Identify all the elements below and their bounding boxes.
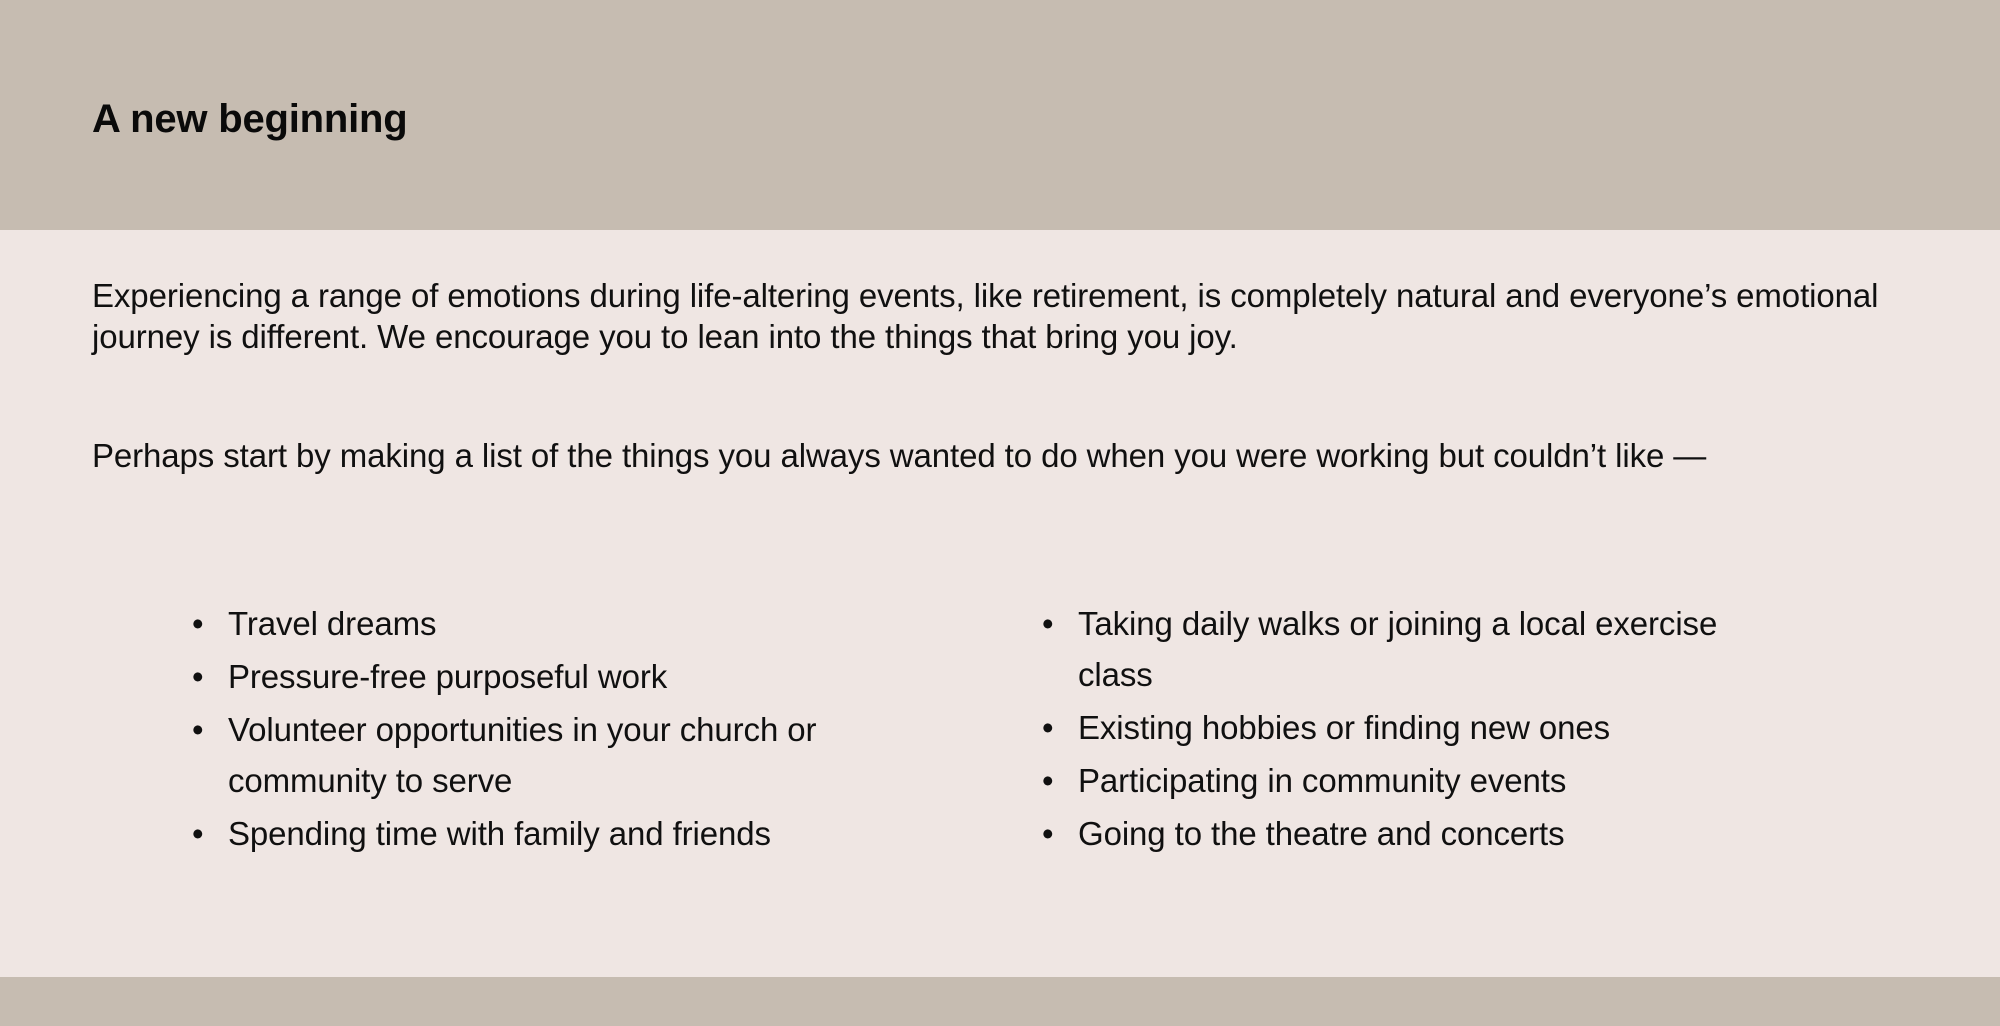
- bullet-icon: •: [192, 704, 228, 755]
- list-item-label: Travel dreams: [228, 605, 436, 642]
- bullet-icon: •: [1042, 702, 1078, 753]
- left-bullet-list: • Travel dreams • Pressure-free purposef…: [192, 598, 1010, 859]
- bullet-list-left-column: • Travel dreams • Pressure-free purposef…: [0, 598, 1010, 861]
- list-item: • Existing hobbies or finding new ones: [1042, 702, 1778, 753]
- intro-paragraph: Experiencing a range of emotions during …: [92, 275, 1922, 357]
- bullet-icon: •: [192, 598, 228, 649]
- list-item-label: Existing hobbies or finding new ones: [1078, 709, 1610, 746]
- header-band: A new beginning: [0, 0, 2000, 230]
- prompt-paragraph: Perhaps start by making a list of the th…: [92, 435, 1922, 476]
- list-item: • Spending time with family and friends: [192, 808, 848, 859]
- list-item: • Taking daily walks or joining a local …: [1042, 598, 1778, 700]
- list-item-label: Going to the theatre and concerts: [1078, 815, 1565, 852]
- list-item: • Pressure-free purposeful work: [192, 651, 848, 702]
- body-content: Experiencing a range of emotions during …: [0, 230, 2000, 977]
- list-item: • Volunteer opportunities in your church…: [192, 704, 848, 806]
- list-item-label: Taking daily walks or joining a local ex…: [1078, 605, 1717, 693]
- bullet-icon: •: [1042, 808, 1078, 859]
- footer-band: [0, 977, 2000, 1026]
- bullet-icon: •: [192, 651, 228, 702]
- bullet-icon: •: [1042, 755, 1078, 806]
- list-item-label: Participating in community events: [1078, 762, 1566, 799]
- page-title: A new beginning: [92, 95, 408, 143]
- list-item: • Participating in community events: [1042, 755, 1778, 806]
- slide: A new beginning Experiencing a range of …: [0, 0, 2000, 1026]
- list-item-label: Spending time with family and friends: [228, 815, 771, 852]
- bullet-lists: • Travel dreams • Pressure-free purposef…: [0, 598, 2000, 861]
- bullet-list-right-column: • Taking daily walks or joining a local …: [1010, 598, 2000, 861]
- list-item-label: Pressure-free purposeful work: [228, 658, 667, 695]
- right-bullet-list: • Taking daily walks or joining a local …: [1042, 598, 2000, 859]
- bullet-icon: •: [1042, 598, 1078, 649]
- list-item: • Going to the theatre and concerts: [1042, 808, 1778, 859]
- bullet-icon: •: [192, 808, 228, 859]
- list-item: • Travel dreams: [192, 598, 848, 649]
- list-item-label: Volunteer opportunities in your church o…: [228, 711, 816, 799]
